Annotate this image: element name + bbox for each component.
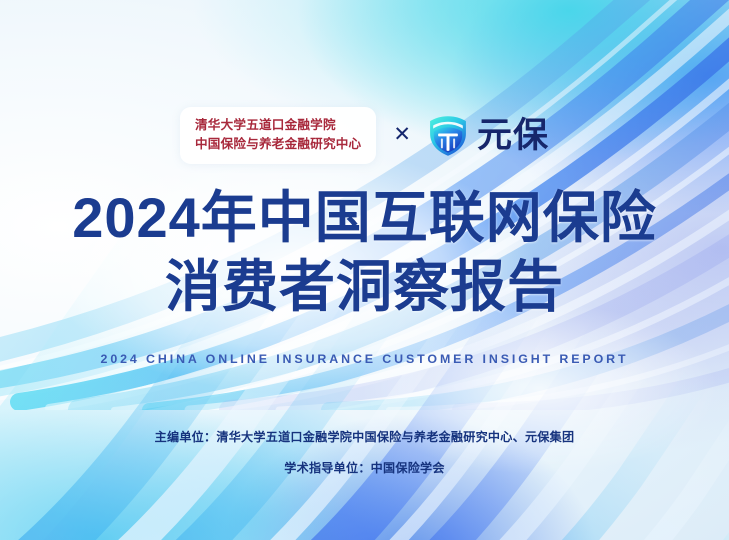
collaboration-separator-icon: ✕: [393, 124, 411, 147]
partner-brand: 元保: [428, 115, 549, 157]
university-name-line-2: 中国保险与养老金融研究中心: [195, 135, 361, 154]
title-line-1: 2024年中国互联网保险: [0, 188, 729, 248]
partner-wordmark: 元保: [477, 118, 549, 153]
university-logo-card: 清华大学五道口金融学院 中国保险与养老金融研究中心: [180, 107, 376, 164]
shield-logo-icon: [428, 115, 468, 157]
credits-block: 主编单位：清华大学五道口金融学院中国保险与养老金融研究中心、元保集团 学术指导单…: [0, 431, 729, 474]
report-subtitle-english: 2024 CHINA ONLINE INSURANCE CUSTOMER INS…: [0, 352, 729, 366]
logo-row: 清华大学五道口金融学院 中国保险与养老金融研究中心 ✕: [0, 107, 729, 164]
credits-editor-line: 主编单位：清华大学五道口金融学院中国保险与养老金融研究中心、元保集团: [0, 431, 729, 443]
title-line-2: 消费者洞察报告: [0, 257, 729, 317]
report-title: 2024年中国互联网保险 消费者洞察报告: [0, 188, 729, 318]
university-name-line-1: 清华大学五道口金融学院: [195, 116, 361, 135]
report-cover: 清华大学五道口金融学院 中国保险与养老金融研究中心 ✕: [0, 0, 729, 540]
credits-academic-advisor-line: 学术指导单位：中国保险学会: [0, 462, 729, 474]
